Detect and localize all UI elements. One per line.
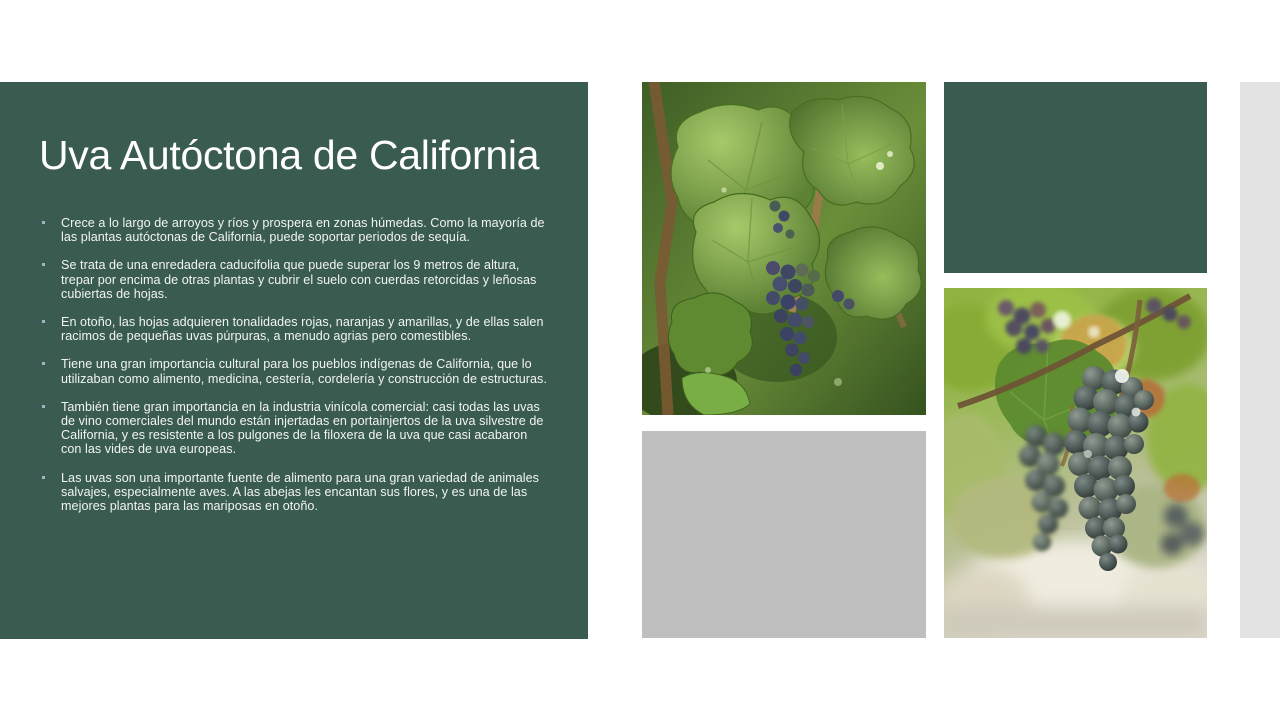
list-item-text: Crece a lo largo de arroyos y ríos y pro… <box>61 216 545 244</box>
bullet-marker-icon <box>42 320 45 323</box>
bullet-marker-icon <box>42 362 45 365</box>
list-item-text: En otoño, las hojas adquieren tonalidade… <box>61 315 544 343</box>
list-item-text: También tiene gran importancia en la ind… <box>61 400 543 457</box>
list-item-text: Tiene una gran importancia cultural para… <box>61 357 547 385</box>
bullet-marker-icon <box>42 405 45 408</box>
slide-canvas: Uva Autóctona de California Crece a lo l… <box>0 0 1280 720</box>
grape-leaves-illustration <box>642 82 926 415</box>
placeholder-gray <box>642 431 926 638</box>
list-item: Tiene una gran importancia cultural para… <box>39 357 551 385</box>
list-item: Crece a lo largo de arroyos y ríos y pro… <box>39 216 551 244</box>
list-item: También tiene gran importancia en la ind… <box>39 400 551 457</box>
bullet-marker-icon <box>42 221 45 224</box>
block-teal <box>944 82 1207 273</box>
text-panel: Uva Autóctona de California Crece a lo l… <box>0 82 588 639</box>
bullet-list: Crece a lo largo de arroyos y ríos y pro… <box>39 216 551 513</box>
bullet-marker-icon <box>42 476 45 479</box>
list-item-text: Se trata de una enredadera caducifolia q… <box>61 258 536 300</box>
photo-grape-cluster <box>944 288 1207 638</box>
list-item: Se trata de una enredadera caducifolia q… <box>39 258 551 301</box>
grape-cluster-illustration <box>944 288 1207 638</box>
photo-grape-leaves <box>642 82 926 415</box>
list-item: Las uvas son una importante fuente de al… <box>39 471 551 514</box>
list-item: En otoño, las hojas adquieren tonalidade… <box>39 315 551 343</box>
bullet-marker-icon <box>42 263 45 266</box>
strip-right-edge <box>1240 82 1280 638</box>
list-item-text: Las uvas son una importante fuente de al… <box>61 471 539 513</box>
page-title: Uva Autóctona de California <box>39 134 559 177</box>
